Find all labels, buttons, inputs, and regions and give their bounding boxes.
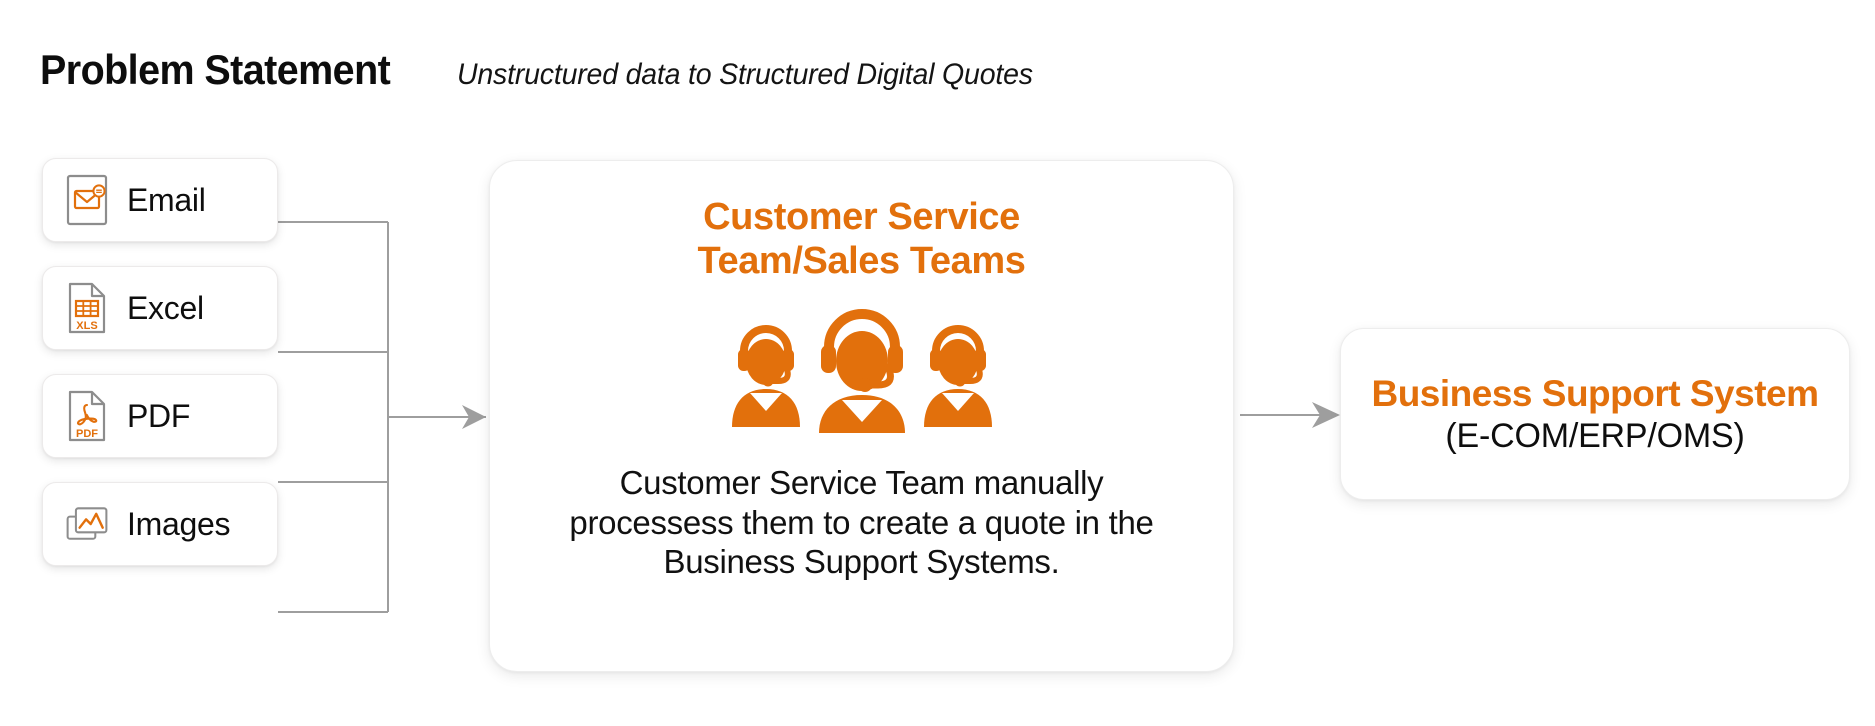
center-card-customer-service[interactable]: Customer Service Team/Sales Teams bbox=[489, 160, 1234, 672]
source-card-email[interactable]: Email bbox=[42, 158, 278, 242]
source-card-excel[interactable]: XLS Excel bbox=[42, 266, 278, 350]
pdf-badge-label: PDF bbox=[76, 428, 98, 440]
header: Problem Statement Unstructured data to S… bbox=[40, 46, 1063, 94]
source-card-label: Images bbox=[127, 506, 230, 543]
right-card-title: Business Support System bbox=[1371, 373, 1818, 415]
arrow-right-icon bbox=[1312, 402, 1340, 428]
customer-service-agents-icon bbox=[712, 305, 1012, 433]
email-file-icon bbox=[63, 174, 111, 226]
images-file-icon bbox=[63, 498, 111, 550]
page-title: Problem Statement bbox=[40, 46, 390, 94]
center-heading-line2: Team/Sales Teams bbox=[697, 240, 1025, 282]
center-card-body: Customer Service Team manually processes… bbox=[542, 463, 1182, 582]
source-card-label: Excel bbox=[127, 290, 204, 327]
pdf-file-icon: PDF bbox=[63, 390, 111, 442]
right-card-subtitle: (E-COM/ERP/OMS) bbox=[1445, 417, 1744, 456]
problem-statement-diagram: Problem Statement Unstructured data to S… bbox=[0, 0, 1875, 726]
source-card-label: PDF bbox=[127, 398, 190, 435]
center-card-heading: Customer Service Team/Sales Teams bbox=[697, 195, 1025, 283]
source-card-pdf[interactable]: PDF PDF bbox=[42, 374, 278, 458]
right-card-business-support-system[interactable]: Business Support System (E-COM/ERP/OMS) bbox=[1340, 328, 1850, 500]
center-heading-line1: Customer Service bbox=[703, 196, 1020, 238]
source-card-images[interactable]: Images bbox=[42, 482, 278, 566]
page-subtitle: Unstructured data to Structured Digital … bbox=[457, 58, 1033, 92]
excel-badge-label: XLS bbox=[76, 320, 97, 332]
source-card-label: Email bbox=[127, 182, 206, 219]
excel-file-icon: XLS bbox=[63, 282, 111, 334]
arrow-right-icon bbox=[462, 405, 486, 429]
